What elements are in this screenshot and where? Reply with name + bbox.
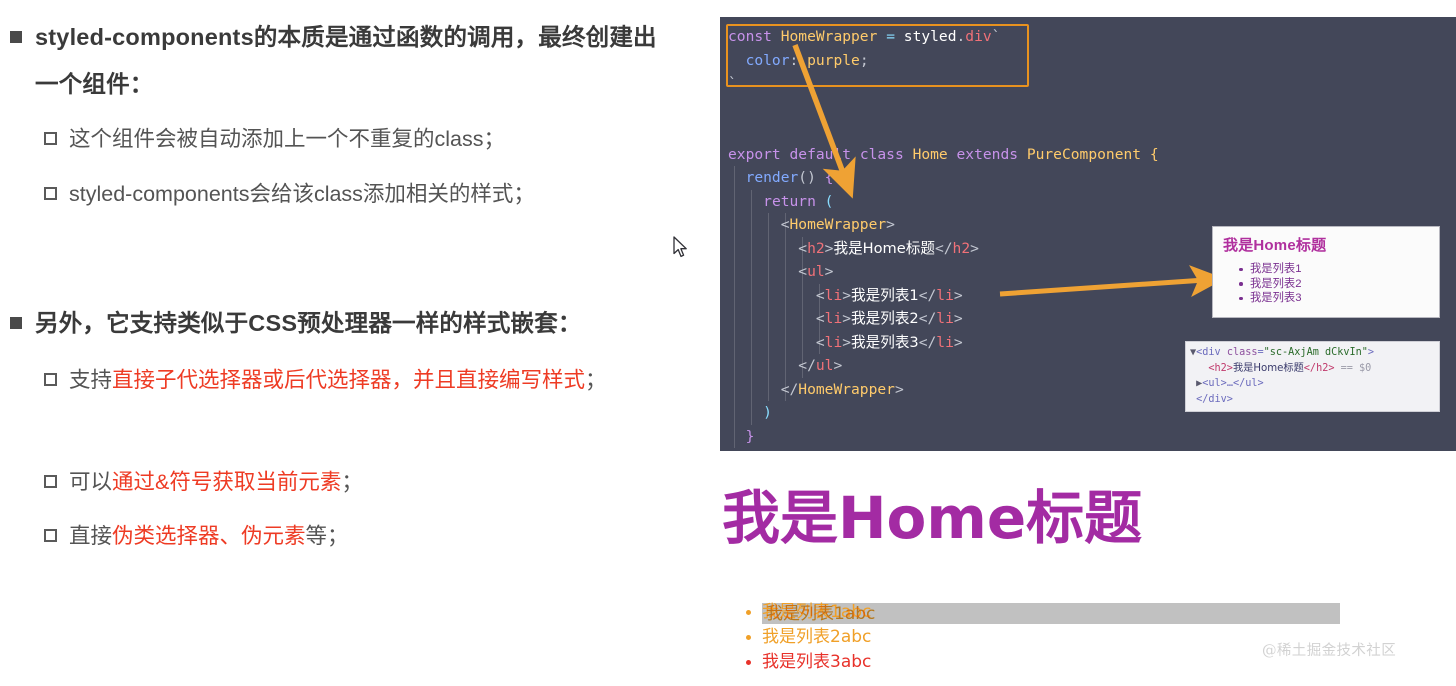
- bullet-level2-3-content: 支持直接子代选择器或后代选择器，并且直接编写样式；: [69, 358, 679, 402]
- devtools-div-class: sc-AxjAm dCkvIn: [1270, 347, 1362, 358]
- devtools-ul-collapsed: <ul>…</ul>: [1202, 378, 1263, 389]
- devtools-line-div-close[interactable]: </div>: [1190, 392, 1439, 408]
- bullet-level2-4-prefix: 可以: [69, 470, 112, 494]
- code-line-4: [720, 96, 1456, 120]
- devtools-line-div-open[interactable]: ▼<div class="sc-AxjAm dCkvIn">: [1190, 345, 1439, 361]
- preview-list-item: 我是列表3: [1239, 291, 1439, 306]
- selected-list-item-text: 我是列表1abc: [766, 604, 875, 624]
- preview-list-item: 我是列表2: [1239, 277, 1439, 292]
- bullet-level1-1-label: styled-components的本质是通过函数的调用，最终创建出一个组件：: [35, 14, 665, 108]
- hollow-square-bullet-icon: [44, 187, 57, 200]
- code-line-8: return (: [720, 190, 1456, 214]
- code-line-5: [720, 119, 1456, 143]
- hollow-square-bullet-icon: [44, 132, 57, 145]
- code-line-19: }: [720, 448, 1456, 451]
- code-line-6: export default class Home extends PureCo…: [720, 143, 1456, 167]
- bullet-level2-1-label: 这个组件会被自动添加上一个不重复的class；: [69, 117, 679, 161]
- preview-list-item: 我是列表1: [1239, 262, 1439, 277]
- hollow-square-bullet-icon: [44, 529, 57, 542]
- rendered-list-item-2: 我是列表2abc: [740, 625, 871, 650]
- bullet-level2-5-content: 直接伪类选择器、伪元素等；: [69, 514, 679, 558]
- filled-square-bullet-icon: [10, 31, 22, 43]
- bullet-level2-3-prefix: 支持: [69, 368, 112, 392]
- code-line-18: }: [720, 425, 1456, 449]
- bullet-level2-3: 支持直接子代选择器或后代选择器，并且直接编写样式；: [44, 358, 679, 402]
- bullet-level2-5-prefix: 直接: [69, 524, 112, 548]
- devtools-h2-text: 我是Home标题: [1233, 363, 1304, 374]
- bullet-level1-2-label: 另外，它支持类似于CSS预处理器一样的样式嵌套：: [35, 300, 665, 347]
- bullet-level2-3-suffix: ；: [585, 368, 607, 392]
- watermark: @稀土掘金技术社区: [1262, 639, 1396, 660]
- bullet-level2-1: 这个组件会被自动添加上一个不重复的class；: [44, 117, 679, 161]
- code-line-7: render() {: [720, 166, 1456, 190]
- hollow-square-bullet-icon: [44, 373, 57, 386]
- bullet-level2-4-highlight: 通过&符号获取当前元素: [112, 470, 341, 494]
- bullet-level2-5: 直接伪类选择器、伪元素等；: [44, 514, 679, 558]
- slide-root: styled-components的本质是通过函数的调用，最终创建出一个组件： …: [0, 0, 1456, 686]
- code-line-1: const HomeWrapper = styled.div`: [720, 25, 1456, 49]
- preview-list: 我是列表1 我是列表2 我是列表3: [1239, 262, 1439, 306]
- bullet-level2-4-content: 可以通过&符号获取当前元素；: [69, 460, 679, 504]
- slide-text-column: styled-components的本质是通过函数的调用，最终创建出一个组件： …: [0, 0, 710, 686]
- bullet-level2-2-label: styled-components会给该class添加相关的样式；: [69, 172, 679, 216]
- bullet-level1-2: 另外，它支持类似于CSS预处理器一样的样式嵌套：: [10, 300, 665, 347]
- preview-title: 我是Home标题: [1223, 234, 1439, 255]
- devtools-div-close: </div>: [1196, 394, 1233, 405]
- devtools-selection-marker: == $0: [1341, 363, 1372, 374]
- code-line-3: `: [720, 72, 1456, 96]
- devtools-elements-panel[interactable]: ▼<div class="sc-AxjAm dCkvIn"> <h2>我是Hom…: [1185, 341, 1440, 412]
- bullet-level2-2: styled-components会给该class添加相关的样式；: [44, 172, 679, 216]
- rendered-page-title: 我是Home标题: [722, 484, 1142, 552]
- devtools-line-ul[interactable]: ▶<ul>…</ul>: [1190, 376, 1439, 392]
- bullet-level2-4: 可以通过&符号获取当前元素；: [44, 460, 679, 504]
- rendered-list-item-3: 我是列表3abc: [740, 650, 871, 675]
- bullet-level1-1: styled-components的本质是通过函数的调用，最终创建出一个组件：: [10, 14, 665, 108]
- bullet-level2-4-suffix: ；: [341, 470, 363, 494]
- browser-preview-box: 我是Home标题 我是列表1 我是列表2 我是列表3: [1212, 226, 1440, 318]
- bullet-level2-5-suffix: 等；: [306, 524, 349, 548]
- bullet-level2-5-highlight: 伪类选择器、伪元素: [112, 524, 306, 548]
- devtools-line-h2[interactable]: <h2>我是Home标题</h2> == $0: [1190, 361, 1439, 377]
- mouse-cursor-icon: [673, 236, 689, 260]
- code-line-2: color: purple;: [720, 49, 1456, 73]
- hollow-square-bullet-icon: [44, 475, 57, 488]
- filled-square-bullet-icon: [10, 317, 22, 329]
- bullet-level2-3-highlight: 直接子代选择器或后代选择器，并且直接编写样式: [112, 368, 585, 392]
